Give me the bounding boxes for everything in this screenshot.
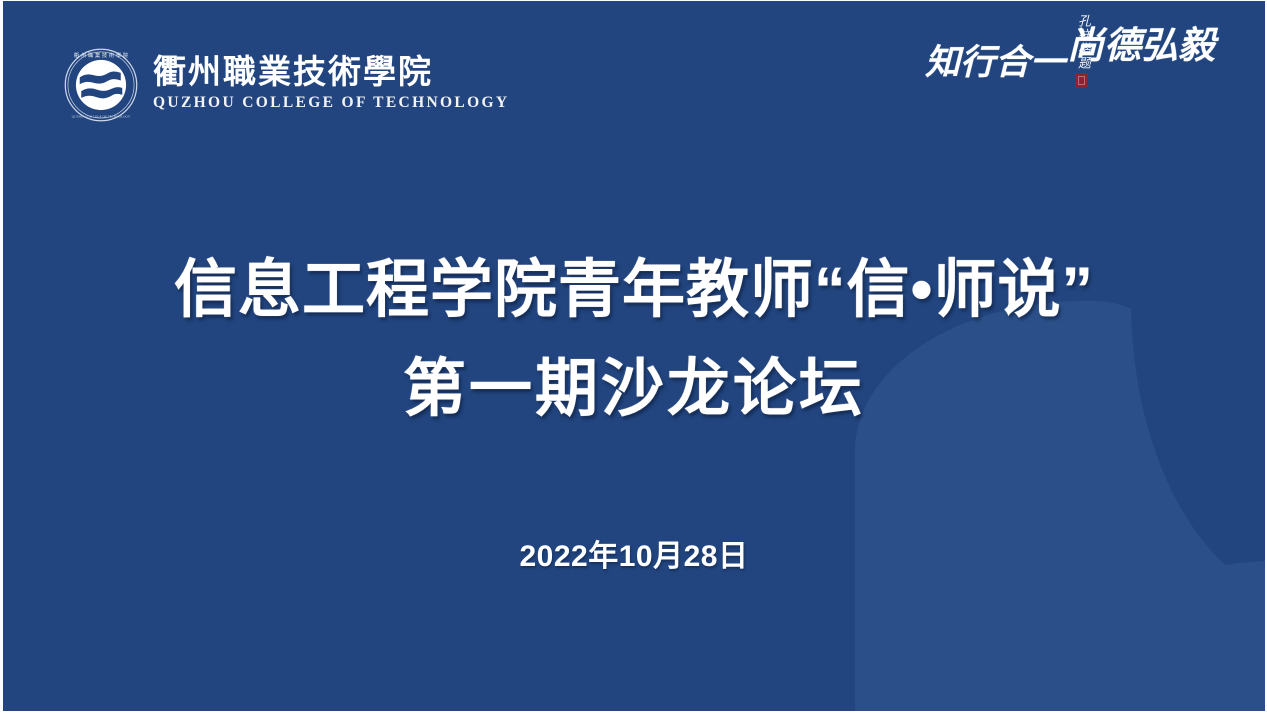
motto-column-left: 知行合一 [925,43,1065,82]
school-motto-calligraphy: 知行合一 尚德弘毅 孔祥楷题 [925,25,1215,82]
event-date: 2022年10月28日 [3,531,1265,575]
red-seal-stamp-icon [1075,73,1088,88]
title-line-1: 信息工程学院青年教师“信•师说” [3,259,1265,322]
university-seal-icon: 衢 州 職 業 技 術 學 院 QUZHOU COLLEGE OF TECHNO… [63,47,139,123]
university-name-cn: 衢州職業技術學院 [153,55,509,90]
university-name-block: 衢州職業技術學院 QUZHOU COLLEGE OF TECHNOLOGY [153,55,509,114]
university-logo-lockup: 衢 州 職 業 技 術 學 院 QUZHOU COLLEGE OF TECHNO… [63,47,509,123]
page-title: 信息工程学院青年教师“信•师说” 第一期沙龙论坛 [3,259,1265,421]
university-name-en: QUZHOU COLLEGE OF TECHNOLOGY [153,94,509,113]
motto-signature-text: 孔祥楷题 [1075,14,1089,70]
motto-signature-block: 孔祥楷题 [1075,14,1089,88]
decorative-lower-right-shape [1093,561,1267,713]
title-line-2: 第一期沙龙论坛 [3,358,1265,421]
svg-text:QUZHOU COLLEGE OF TECHNOLOGY: QUZHOU COLLEGE OF TECHNOLOGY [72,115,131,119]
presentation-title-slide: 衢 州 職 業 技 術 學 院 QUZHOU COLLEGE OF TECHNO… [0,0,1267,713]
